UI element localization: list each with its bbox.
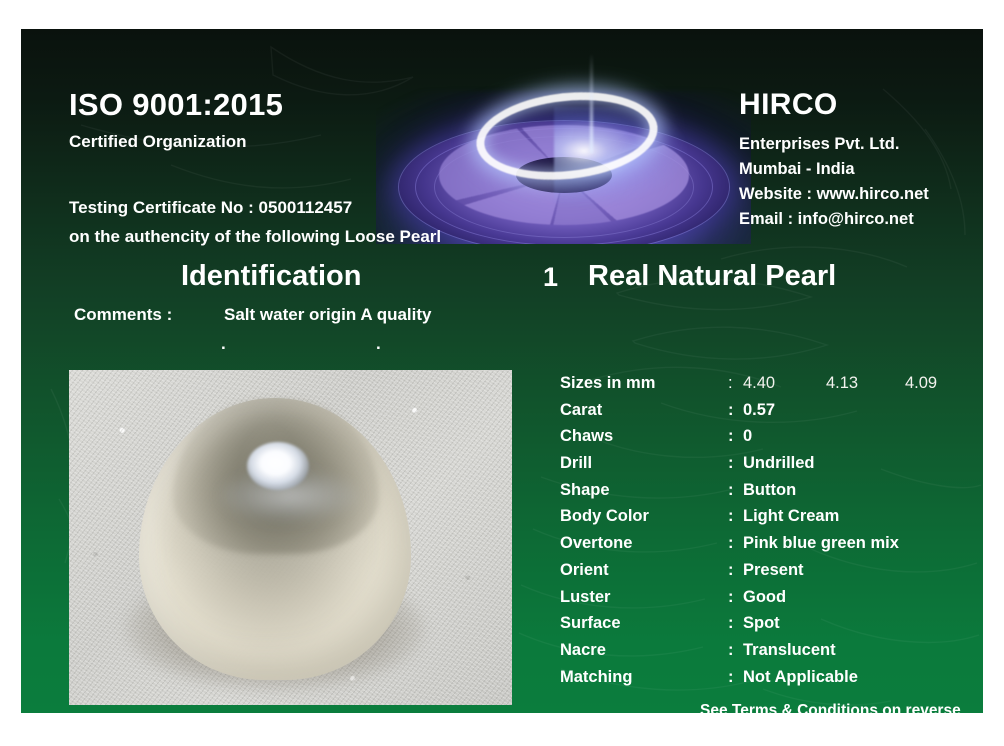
comments-dot-marker-1: . [221, 334, 226, 354]
property-separator: : [728, 427, 734, 446]
table-row: Shape : Button [560, 481, 983, 508]
item-number: 1 [543, 262, 558, 293]
comments-label: Comments : [74, 305, 172, 325]
table-row: Nacre : Translucent [560, 641, 983, 668]
brand-line-entity: Enterprises Pvt. Ltd. [739, 132, 929, 157]
table-row: Surface : Spot [560, 614, 983, 641]
property-separator: : [728, 668, 734, 687]
property-label: Matching [560, 668, 632, 687]
authenticity-statement: on the authencity of the following Loose… [69, 227, 441, 247]
table-row: Chaws : 0 [560, 427, 983, 454]
property-value: Pink blue green mix [743, 534, 899, 553]
comments-value: Salt water origin A quality [224, 305, 432, 325]
item-name: Real Natural Pearl [588, 260, 836, 293]
property-value: Light Cream [743, 507, 839, 526]
property-label: Carat [560, 401, 602, 420]
property-value: Not Applicable [743, 668, 858, 687]
property-value: Undrilled [743, 454, 815, 473]
table-row-sizes: Sizes in mm : 4.40 4.13 4.09 [560, 374, 983, 401]
property-value: Spot [743, 614, 780, 633]
brand-line-website[interactable]: Website : www.hirco.net [739, 182, 929, 207]
property-value: Good [743, 588, 786, 607]
property-label: Surface [560, 614, 621, 633]
size-value-2: 4.13 [826, 374, 858, 393]
property-label: Chaws [560, 427, 613, 446]
comments-dot-marker-2: . [376, 334, 381, 354]
pearl-properties-table: Sizes in mm : 4.40 4.13 4.09 Carat : 0.5… [560, 374, 983, 694]
table-row: Body Color : Light Cream [560, 507, 983, 534]
property-label: Sizes in mm [560, 374, 655, 393]
property-separator: : [728, 454, 734, 473]
property-separator: : [728, 401, 734, 420]
property-separator: : [728, 534, 734, 553]
property-separator: : [728, 641, 734, 660]
table-row: Overtone : Pink blue green mix [560, 534, 983, 561]
hologram-disc-icon [376, 29, 751, 244]
certificate-card: ISO 9001:2015 Certified Organization Tes… [21, 29, 983, 713]
table-row: Luster : Good [560, 588, 983, 615]
property-label: Overtone [560, 534, 632, 553]
property-separator: : [728, 507, 734, 526]
table-row: Matching : Not Applicable [560, 668, 983, 695]
property-label: Orient [560, 561, 609, 580]
property-value: Present [743, 561, 804, 580]
table-row: Carat : 0.57 [560, 401, 983, 428]
table-row: Drill : Undrilled [560, 454, 983, 481]
property-label: Luster [560, 588, 610, 607]
property-separator: : [728, 614, 734, 633]
size-value-1: 4.40 [743, 374, 775, 393]
iso-subtitle: Certified Organization [69, 132, 247, 152]
brand-line-email[interactable]: Email : info@hirco.net [739, 207, 929, 232]
property-label: Shape [560, 481, 610, 500]
property-separator: : [728, 588, 734, 607]
property-label: Body Color [560, 507, 649, 526]
property-value: 0.57 [743, 401, 775, 420]
property-separator: : [728, 481, 734, 500]
identification-heading: Identification [181, 260, 361, 293]
property-separator: : [728, 374, 733, 393]
property-separator: : [728, 561, 734, 580]
terms-conditions-note: See Terms & Conditions on reverse [700, 702, 961, 713]
iso-title: ISO 9001:2015 [69, 87, 283, 123]
property-label: Nacre [560, 641, 606, 660]
brand-contact-block: Enterprises Pvt. Ltd. Mumbai - India Web… [739, 132, 929, 232]
table-row: Orient : Present [560, 561, 983, 588]
property-label: Drill [560, 454, 592, 473]
certificate-number: Testing Certificate No : 0500112457 [69, 198, 352, 218]
brand-name: HIRCO [739, 88, 838, 122]
brand-line-city: Mumbai - India [739, 157, 929, 182]
property-value: Translucent [743, 641, 836, 660]
property-value: 0 [743, 427, 752, 446]
property-value: Button [743, 481, 796, 500]
pearl-specimen-photo [69, 370, 512, 705]
size-value-3: 4.09 [905, 374, 937, 393]
